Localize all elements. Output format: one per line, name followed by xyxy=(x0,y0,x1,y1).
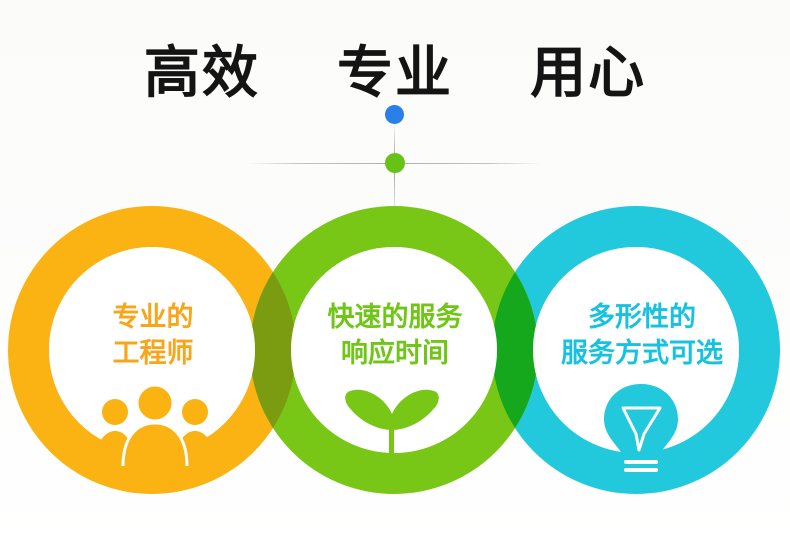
inner-disc-2 xyxy=(291,247,497,453)
inner-disc-1 xyxy=(49,247,255,453)
poster-canvas: 高效 专业 用心 xyxy=(0,0,790,557)
inner-disc-3 xyxy=(533,247,739,453)
venn-svg xyxy=(0,190,790,520)
venn-diagram xyxy=(0,190,790,520)
green-dot-icon xyxy=(385,153,405,173)
blue-dot-icon xyxy=(385,105,404,124)
